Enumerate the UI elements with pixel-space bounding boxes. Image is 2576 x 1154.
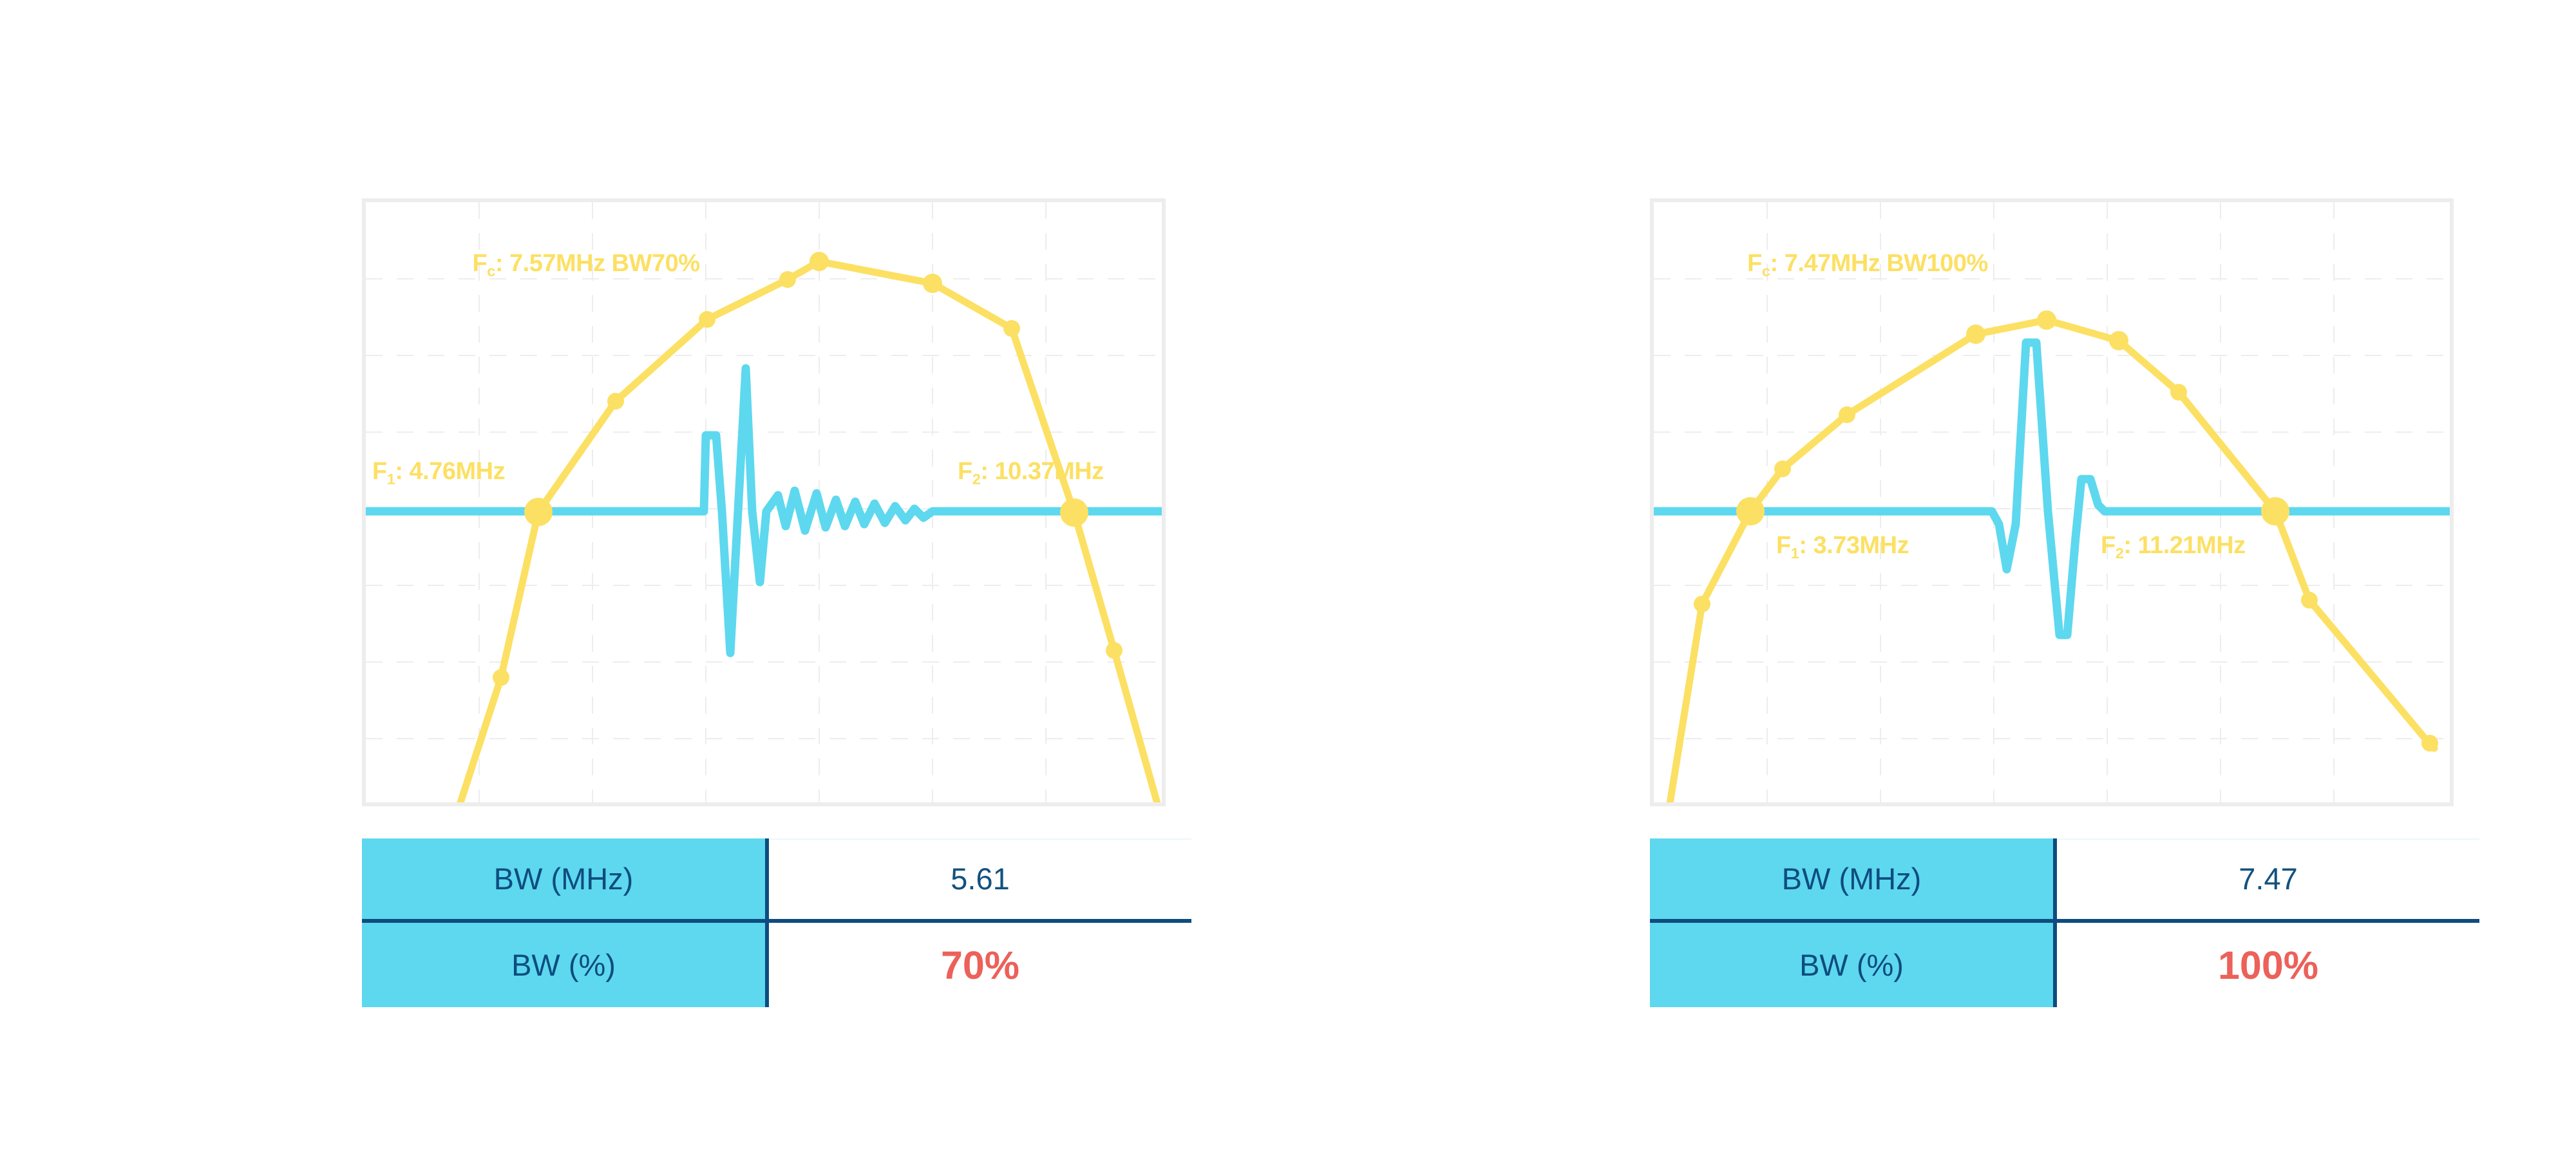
annotation-f2-sub-right: 2 — [2116, 545, 2124, 562]
annotation-f1-right: F1: 3.73MHz — [1776, 533, 1909, 558]
table-header-bw-mhz-left: BW (MHz) — [362, 838, 769, 919]
bw-percent-value-right: 100% — [2218, 943, 2318, 988]
table-row: BW (%) 100% — [1650, 923, 2479, 1007]
annotation-f2-right: F2: 11.21MHz — [2101, 533, 2246, 558]
annotation-f2-text-right: : 11.21MHz — [2123, 532, 2245, 559]
plot-right — [1650, 198, 2454, 806]
annotation-f1-prefix-right: F — [1776, 532, 1791, 559]
annotation-center-text-right: : 7.47MHz BW100% — [1770, 250, 1988, 277]
annotation-f1-text-right: : 3.73MHz — [1799, 532, 1909, 559]
plot-left — [362, 198, 1166, 806]
figure-root: Fc: 7.57MHz BW70% F1: 4.76MHz F2: 10.37M… — [0, 0, 2576, 1154]
bandwidth-table-left: BW (MHz) 5.61 BW (%) 70% — [362, 838, 1191, 1007]
annotation-center-frequency-right: Fc: 7.47MHz BW100% — [1747, 251, 1988, 276]
annotation-center-sub-left: c — [487, 263, 495, 279]
gridlines-right — [1654, 202, 2450, 802]
annotation-f2-sub-left: 2 — [972, 471, 981, 487]
annotation-center-frequency-left: Fc: 7.57MHz BW70% — [472, 251, 699, 276]
annotation-center-text-left: : 7.57MHz BW70% — [495, 250, 700, 277]
impulse-response-right — [1654, 343, 2450, 635]
bandwidth-table-right: BW (MHz) 7.47 BW (%) 100% — [1650, 838, 2479, 1007]
annotation-f2-prefix-right: F — [2101, 532, 2116, 559]
envelope-markers-right — [1694, 310, 2438, 752]
annotation-center-prefix-right: F — [1747, 250, 1762, 277]
plot-left-svg — [366, 202, 1162, 802]
annotation-center-prefix-left: F — [472, 250, 487, 277]
annotation-f1-left: F1: 4.76MHz — [372, 459, 505, 484]
table-header-bw-percent-right: BW (%) — [1650, 923, 2057, 1007]
table-row: BW (MHz) 5.61 — [362, 838, 1191, 923]
annotation-f2-text-left: : 10.37MHz — [980, 458, 1103, 485]
table-cell-bw-mhz-right: 7.47 — [2057, 838, 2479, 919]
annotation-f1-sub-right: 1 — [1791, 545, 1799, 562]
annotation-f1-sub-left: 1 — [387, 471, 395, 487]
annotation-f1-prefix-left: F — [372, 458, 387, 485]
panel-left: Fc: 7.57MHz BW70% F1: 4.76MHz F2: 10.37M… — [0, 0, 1288, 1154]
table-row: BW (%) 70% — [362, 923, 1191, 1007]
annotation-center-sub-right: c — [1762, 263, 1770, 279]
bw-mhz-value-left: 5.61 — [951, 861, 1009, 896]
table-cell-bw-percent-left: 70% — [769, 923, 1191, 1007]
bw-percent-value-left: 70% — [941, 943, 1019, 988]
table-cell-bw-percent-right: 100% — [2057, 923, 2479, 1007]
table-cell-bw-mhz-left: 5.61 — [769, 838, 1191, 919]
plot-right-svg — [1654, 202, 2450, 802]
table-header-bw-percent-left: BW (%) — [362, 923, 769, 1007]
annotation-f2-left: F2: 10.37MHz — [958, 459, 1104, 484]
bw-mhz-value-right: 7.47 — [2239, 861, 2297, 896]
annotation-f2-prefix-left: F — [958, 458, 972, 485]
table-row: BW (MHz) 7.47 — [1650, 838, 2479, 923]
table-header-bw-mhz-right: BW (MHz) — [1650, 838, 2057, 919]
annotation-f1-text-left: : 4.76MHz — [395, 458, 505, 485]
panel-right: Fc: 7.47MHz BW100% F1: 3.73MHz F2: 11.21… — [1288, 0, 2576, 1154]
